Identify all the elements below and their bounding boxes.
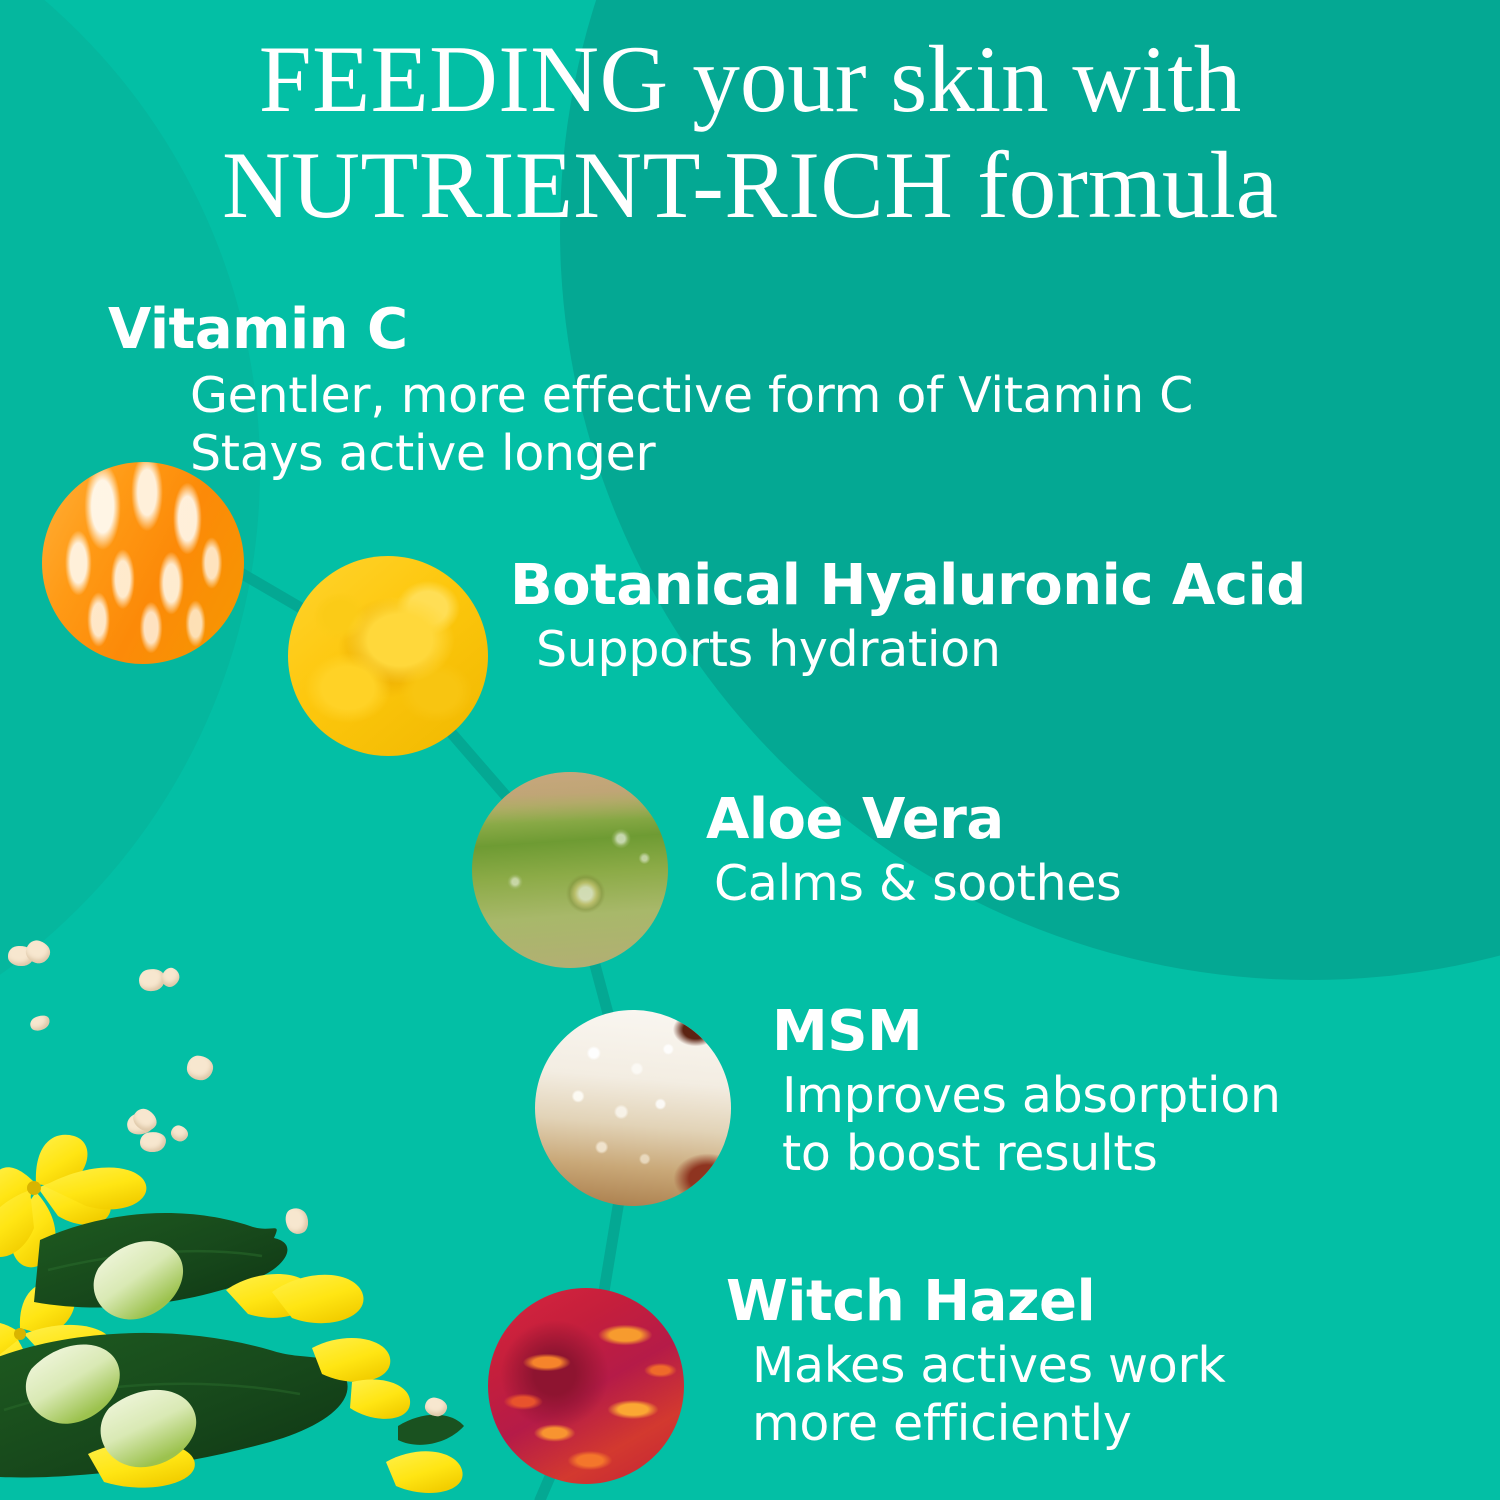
ingredient-name-msm: MSM <box>772 1002 1281 1061</box>
headline-line-1-rest: your skin with <box>669 26 1242 132</box>
ingredient-name-aloe-vera: Aloe Vera <box>706 790 1121 849</box>
headline-line-2-caps: NUTRIENT-RICH <box>222 132 953 238</box>
page-title: FEEDING your skin with NUTRIENT-RICH for… <box>0 26 1500 239</box>
description-line: more efficiently <box>752 1395 1225 1453</box>
ingredient-block-botanical-hyaluronic-acid: Botanical Hyaluronic Acid Supports hydra… <box>510 556 1306 679</box>
ingredient-image-botanical-hyaluronic-acid <box>288 556 488 756</box>
ingredient-block-msm: MSM Improves absorption to boost results <box>772 1002 1281 1183</box>
red-orange-flower-petals-photo <box>488 1288 684 1484</box>
description-line: Calms & soothes <box>714 855 1121 913</box>
ingredient-description-botanical-hyaluronic-acid: Supports hydration <box>536 621 1306 679</box>
description-line: Improves absorption <box>782 1067 1281 1125</box>
white-crystal-granules-photo <box>535 1010 731 1206</box>
headline-line-2: NUTRIENT-RICH formula <box>0 132 1500 238</box>
description-line: Supports hydration <box>536 621 1306 679</box>
ingredient-name-vitamin-c: Vitamin C <box>108 300 1193 359</box>
infographic-canvas: FEEDING your skin with NUTRIENT-RICH for… <box>0 0 1500 1500</box>
ingredient-description-vitamin-c: Gentler, more effective form of Vitamin … <box>190 367 1193 483</box>
ingredient-name-witch-hazel: Witch Hazel <box>726 1272 1225 1331</box>
ingredient-description-msm: Improves absorption to boost results <box>782 1067 1281 1183</box>
orange-citrus-segment-photo <box>42 462 244 664</box>
headline-line-2-rest: formula <box>953 132 1277 238</box>
yellow-rose-petal-photo <box>288 556 488 756</box>
ingredient-image-aloe-vera <box>472 772 668 968</box>
description-line: Stays active longer <box>190 425 1193 483</box>
ingredient-image-witch-hazel <box>488 1288 684 1484</box>
description-line: Gentler, more effective form of Vitamin … <box>190 367 1193 425</box>
description-line: Makes actives work <box>752 1337 1225 1395</box>
headline-line-1: FEEDING your skin with <box>0 26 1500 132</box>
description-line: to boost results <box>782 1125 1281 1183</box>
green-stem-dew-drop-photo <box>472 772 668 968</box>
ingredient-description-witch-hazel: Makes actives work more efficiently <box>752 1337 1225 1453</box>
ingredient-name-botanical-hyaluronic-acid: Botanical Hyaluronic Acid <box>510 556 1306 615</box>
ingredient-block-witch-hazel: Witch Hazel Makes actives work more effi… <box>726 1272 1225 1453</box>
headline-line-1-caps: FEEDING <box>259 26 669 132</box>
ingredient-block-aloe-vera: Aloe Vera Calms & soothes <box>706 790 1121 913</box>
ingredient-image-msm <box>535 1010 731 1206</box>
ingredient-image-vitamin-c <box>42 462 244 664</box>
ingredient-block-vitamin-c: Vitamin C Gentler, more effective form o… <box>108 300 1193 483</box>
ingredient-description-aloe-vera: Calms & soothes <box>714 855 1121 913</box>
